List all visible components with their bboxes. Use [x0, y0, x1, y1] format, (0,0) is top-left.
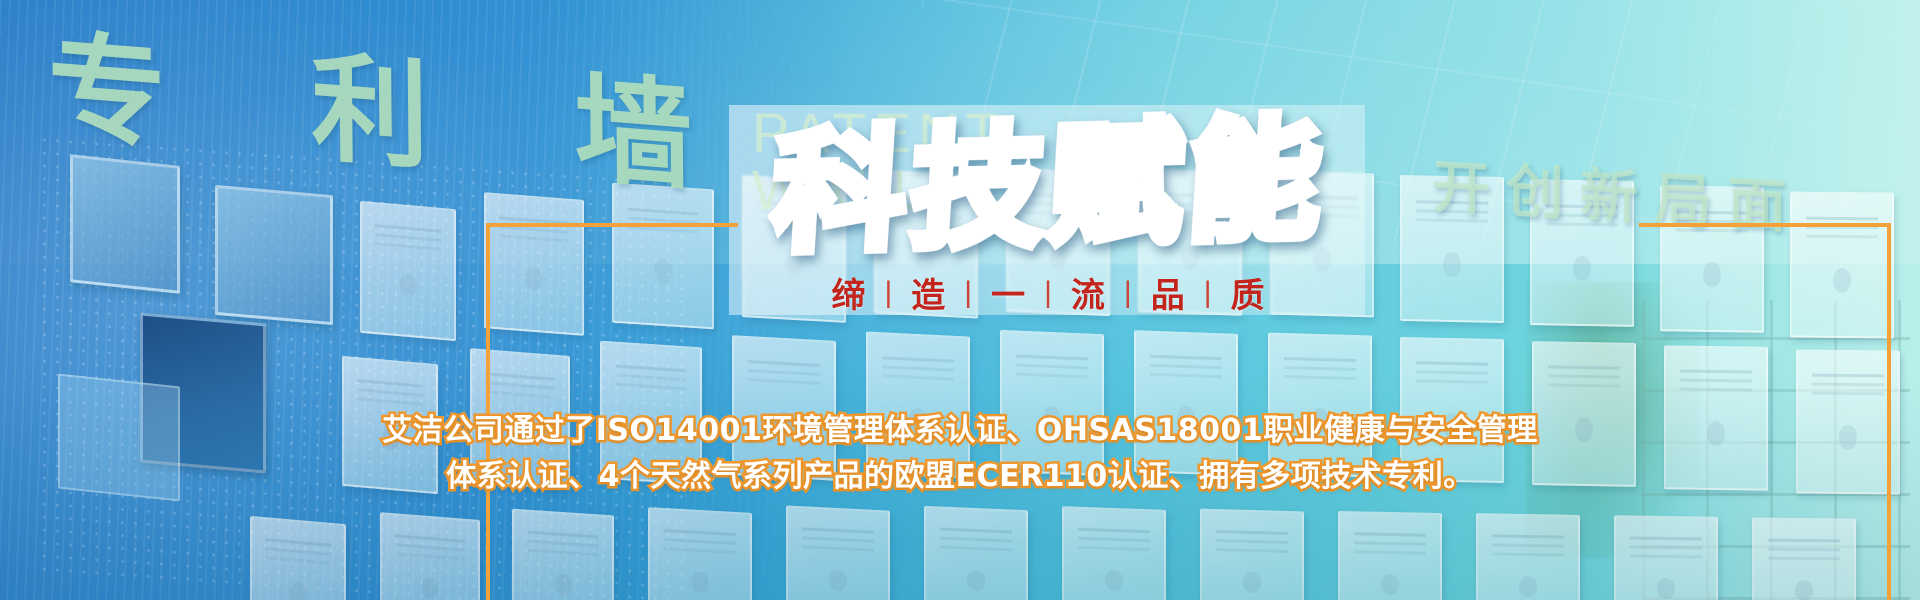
slogan-separator: |	[1204, 276, 1212, 310]
slogan-char-6: 质	[1211, 268, 1283, 317]
slogan-char-3: 一	[972, 268, 1044, 317]
slogan-separator: |	[1124, 276, 1132, 310]
slogan-char-1: 缔	[813, 268, 885, 317]
slogan-char-2: 造	[892, 268, 964, 317]
description-paragraph: 艾洁公司通过了ISO14001环境管理体系认证、OHSAS18001职业健康与安…	[380, 408, 1540, 499]
slogan-char-5: 品	[1132, 268, 1204, 317]
slogan-separator: |	[885, 276, 893, 310]
patent-wall-banner: 专 利 墙 开创新局面 PATENT WALL 科技赋能 缔 | 造 | 一 |…	[0, 0, 1920, 600]
main-title-text: 科技赋能	[769, 114, 1330, 260]
main-title: 科技赋能	[730, 92, 1370, 282]
description-line-2: 体系认证、4个天然气系列产品的欧盟ECER110认证、拥有多项技术专利。	[380, 454, 1540, 500]
slogan-row: 缔 | 造 | 一 | 流 | 品 | 质	[730, 268, 1366, 317]
slogan-char-4: 流	[1052, 268, 1124, 317]
slogan-separator: |	[1044, 276, 1052, 310]
description-line-1: 艾洁公司通过了ISO14001环境管理体系认证、OHSAS18001职业健康与安…	[382, 413, 1538, 448]
slogan-separator: |	[964, 276, 972, 310]
